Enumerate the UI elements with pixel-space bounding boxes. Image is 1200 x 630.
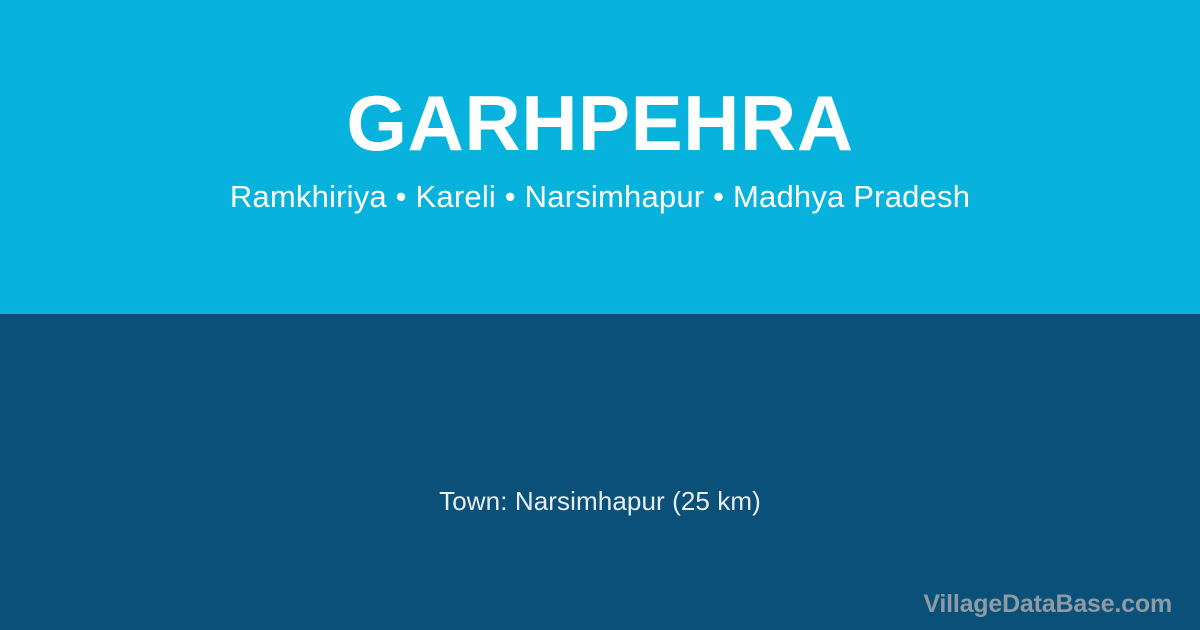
breadcrumb: Ramkhiriya • Kareli • Narsimhapur • Madh… (230, 180, 970, 214)
village-info-card: GARHPEHRA Ramkhiriya • Kareli • Narsimha… (0, 0, 1200, 630)
info-band: Town: Narsimhapur (25 km) (0, 314, 1200, 630)
nearest-town-text: Town: Narsimhapur (25 km) (0, 486, 1200, 516)
hero-content: GARHPEHRA Ramkhiriya • Kareli • Narsimha… (0, 0, 1200, 314)
hero-band: GARHPEHRA Ramkhiriya • Kareli • Narsimha… (0, 0, 1200, 314)
page-title: GARHPEHRA (346, 84, 853, 162)
site-watermark: VillageDataBase.com (923, 590, 1172, 618)
